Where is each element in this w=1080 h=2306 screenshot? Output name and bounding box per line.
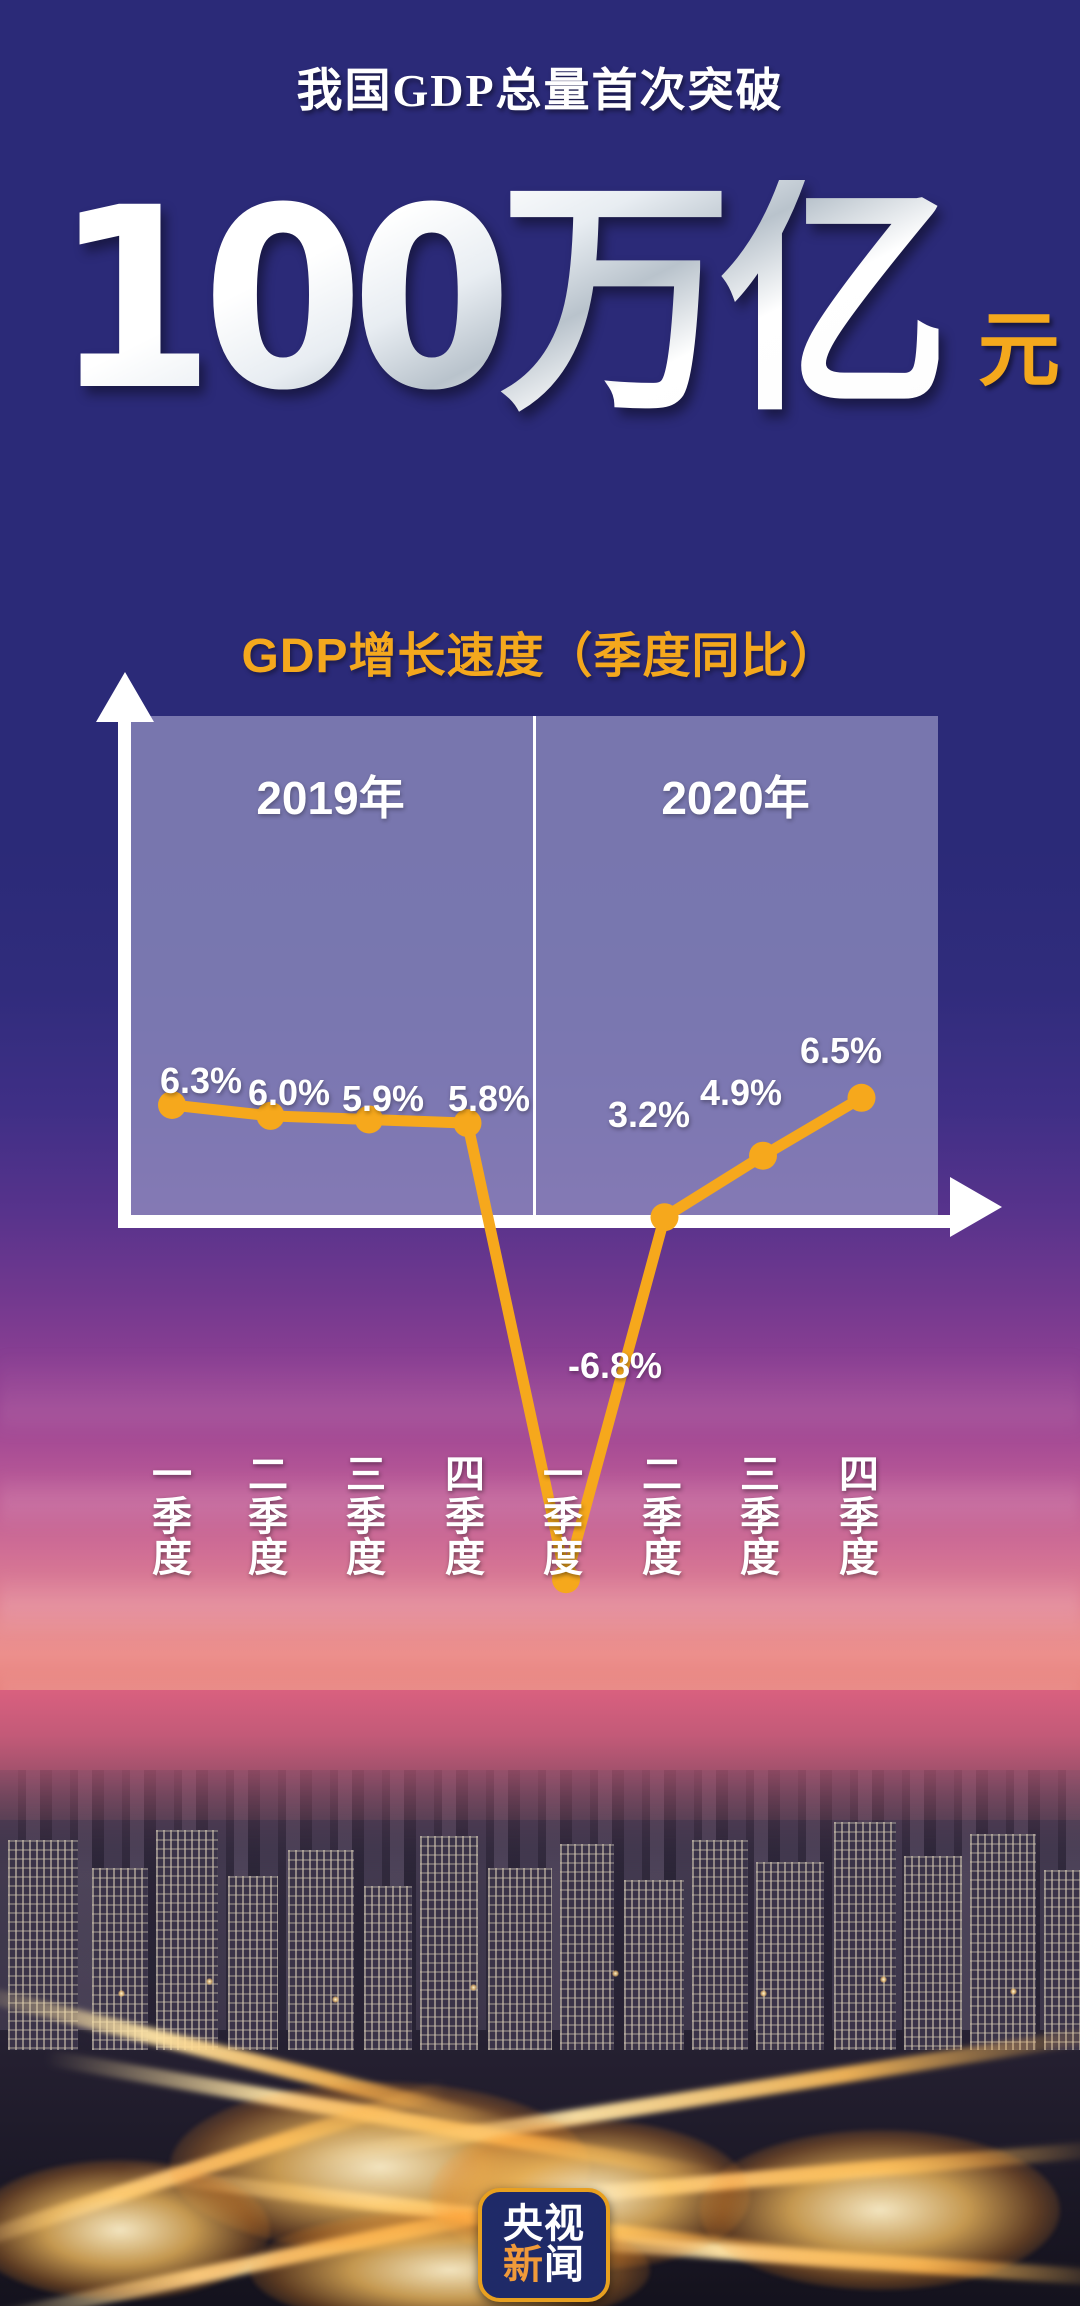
logo-line-1: 央 视 [503,2204,585,2245]
quarter-char: 二季度 [233,1455,303,1580]
quarter-char: 季 [331,1497,401,1539]
quarter-char: 三 [331,1455,401,1497]
quarter-char: 季 [528,1497,598,1539]
point-label-2019-q3: 5.9% [342,1078,424,1120]
headline-big-number-row: 100万亿 元 [0,130,1080,420]
logo-char-yang: 央 [503,2204,544,2245]
quarter-char: 四季度 [824,1455,894,1580]
quarter-char: 二季度 [627,1455,697,1580]
quarter-char: 四 [824,1455,894,1497]
quarter-label-2019-q3: 三季度 [331,1455,401,1580]
quarter-label-2019-q1: 一季度 [137,1455,207,1580]
quarter-char: 一 [528,1455,598,1497]
year-label-2020: 2020年 [533,762,938,828]
point-label-2019-q2: 6.0% [248,1072,330,1114]
quarter-char: 度 [331,1538,401,1580]
year-label-2019: 2019年 [128,762,533,828]
logo-char-xin: 新 [503,2245,544,2286]
quarter-char: 季 [233,1497,303,1539]
y-axis-arrow-icon [96,672,154,722]
chart-plot-area: 2019年 2020年 [128,716,938,1221]
headline-kicker: 我国GDP总量首次突破 [0,54,1080,120]
logo-line-2: 新 闻 [503,2245,585,2286]
quarter-label-2020-q1: 一季度 [528,1455,598,1580]
quarter-char: 度 [627,1538,697,1580]
point-label-2020-q2: 3.2% [608,1094,690,1136]
y-axis-line [118,716,131,1228]
quarter-char: 度 [233,1538,303,1580]
quarter-char: 季 [725,1497,795,1539]
quarter-label-2020-q3: 三季度 [725,1455,795,1580]
quarter-char: 季 [137,1497,207,1539]
logo-char-wen: 闻 [544,2245,585,2286]
quarter-char: 度 [824,1538,894,1580]
quarter-label-2020-q2: 二季度 [627,1455,697,1580]
quarter-char: 二 [233,1455,303,1497]
quarter-label-2019-q4: 四季度 [430,1455,500,1580]
x-axis-arrow-icon [950,1177,1002,1237]
cctv-news-logo: 央 视 新 闻 [478,2188,610,2302]
quarter-char: 四季度 [430,1455,500,1580]
quarter-char: 三 [725,1455,795,1497]
quarter-char: 一季度 [528,1455,598,1580]
quarter-char: 度 [430,1538,500,1580]
quarter-char: 二 [627,1455,697,1497]
quarter-char: 度 [725,1538,795,1580]
quarter-label-2019-q2: 二季度 [233,1455,303,1580]
quarter-char: 度 [528,1538,598,1580]
quarter-char: 一季度 [137,1455,207,1580]
infographic-poster: 我国GDP总量首次突破 100万亿 元 GDP增长速度（季度同比） 2019年 … [0,0,1080,2306]
quarter-char: 三季度 [725,1455,795,1580]
quarter-char: 四 [430,1455,500,1497]
quarter-char: 一 [137,1455,207,1497]
point-label-2019-q1: 6.3% [160,1060,242,1102]
point-label-2020-q3: 4.9% [700,1072,782,1114]
logo-char-shi: 视 [544,2204,585,2245]
headline-unit: 元 [978,283,1060,402]
point-label-2020-q1: -6.8% [568,1345,662,1387]
headline-big-number: 100万亿 [53,180,938,420]
quarter-char: 三季度 [331,1455,401,1580]
quarter-char: 季 [430,1497,500,1539]
quarter-char: 季 [627,1497,697,1539]
point-label-2020-q4: 6.5% [800,1030,882,1072]
x-axis-line [118,1215,960,1228]
point-label-2019-q4: 5.8% [448,1078,530,1120]
quarter-label-2020-q4: 四季度 [824,1455,894,1580]
quarter-char: 度 [137,1538,207,1580]
chart-title: GDP增长速度（季度同比） [0,616,1080,686]
quarter-char: 季 [824,1497,894,1539]
